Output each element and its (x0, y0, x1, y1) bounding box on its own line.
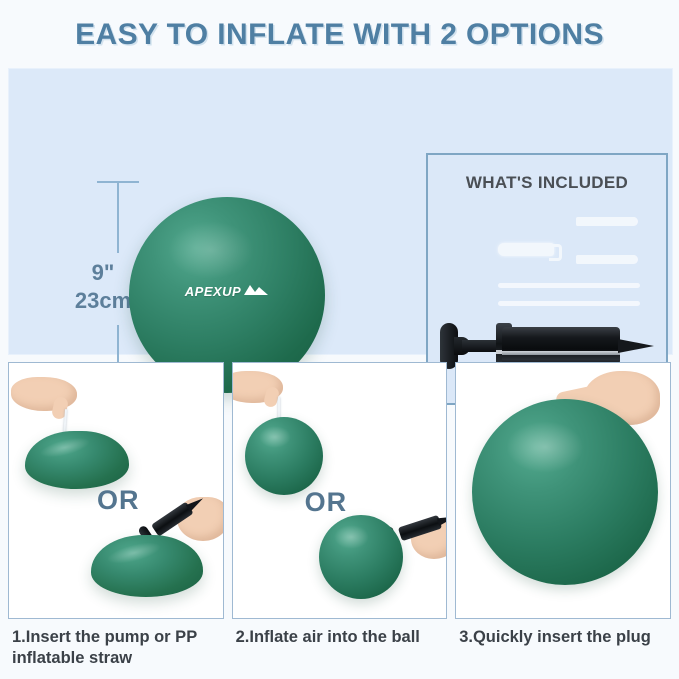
or-label-step-1: OR (97, 485, 140, 516)
pump-barrel (502, 327, 620, 365)
inflated-ball-2 (319, 515, 403, 599)
inflatable-straw-2-icon (498, 301, 640, 306)
step-2-image: OR (232, 362, 448, 619)
infographic-page: EASY TO INFLATE WITH 2 OPTIONS 9" 23cm A… (0, 0, 679, 679)
step-3: 3.Quickly insert the plug (455, 362, 671, 672)
pump-tip (618, 339, 654, 353)
whats-included-title: WHAT'S INCLUDED (428, 173, 666, 193)
step-3-image (455, 362, 671, 619)
step-2: OR 2.Inflate air into the ball (232, 362, 448, 672)
step-2-caption: 2.Inflate air into the ball (232, 627, 448, 648)
step-1-image: OR (8, 362, 224, 619)
inflated-ball-large (472, 399, 658, 585)
deflated-ball-2 (91, 535, 203, 597)
steps-row: OR 1.Insert the pump or PP inflatable st… (8, 362, 671, 672)
step-1-caption: 1.Insert the pump or PP inflatable straw (8, 627, 224, 668)
deflated-ball-1 (25, 431, 129, 489)
step-1: OR 1.Insert the pump or PP inflatable st… (8, 362, 224, 672)
step-3-caption: 3.Quickly insert the plug (455, 627, 671, 648)
nozzle-adapter-2-icon (576, 255, 638, 264)
top-panel: 9" 23cm APEXUP WHAT'S INCLUDED (8, 68, 673, 355)
or-label-step-2: OR (305, 487, 348, 518)
plug-remover-tool-icon (498, 243, 554, 256)
brand-logo-text: APEXUP (185, 284, 241, 299)
nozzle-adapter-1-icon (576, 217, 638, 226)
mountain-icon (243, 283, 269, 299)
header: EASY TO INFLATE WITH 2 OPTIONS (0, 0, 679, 70)
page-title: EASY TO INFLATE WITH 2 OPTIONS (75, 18, 604, 52)
brand-logo: APEXUP (129, 283, 325, 299)
inflatable-straw-1-icon (498, 283, 640, 288)
inflated-ball-1 (245, 417, 323, 495)
dimension-cap-top (97, 181, 139, 183)
mini-pump-tip (436, 513, 447, 526)
